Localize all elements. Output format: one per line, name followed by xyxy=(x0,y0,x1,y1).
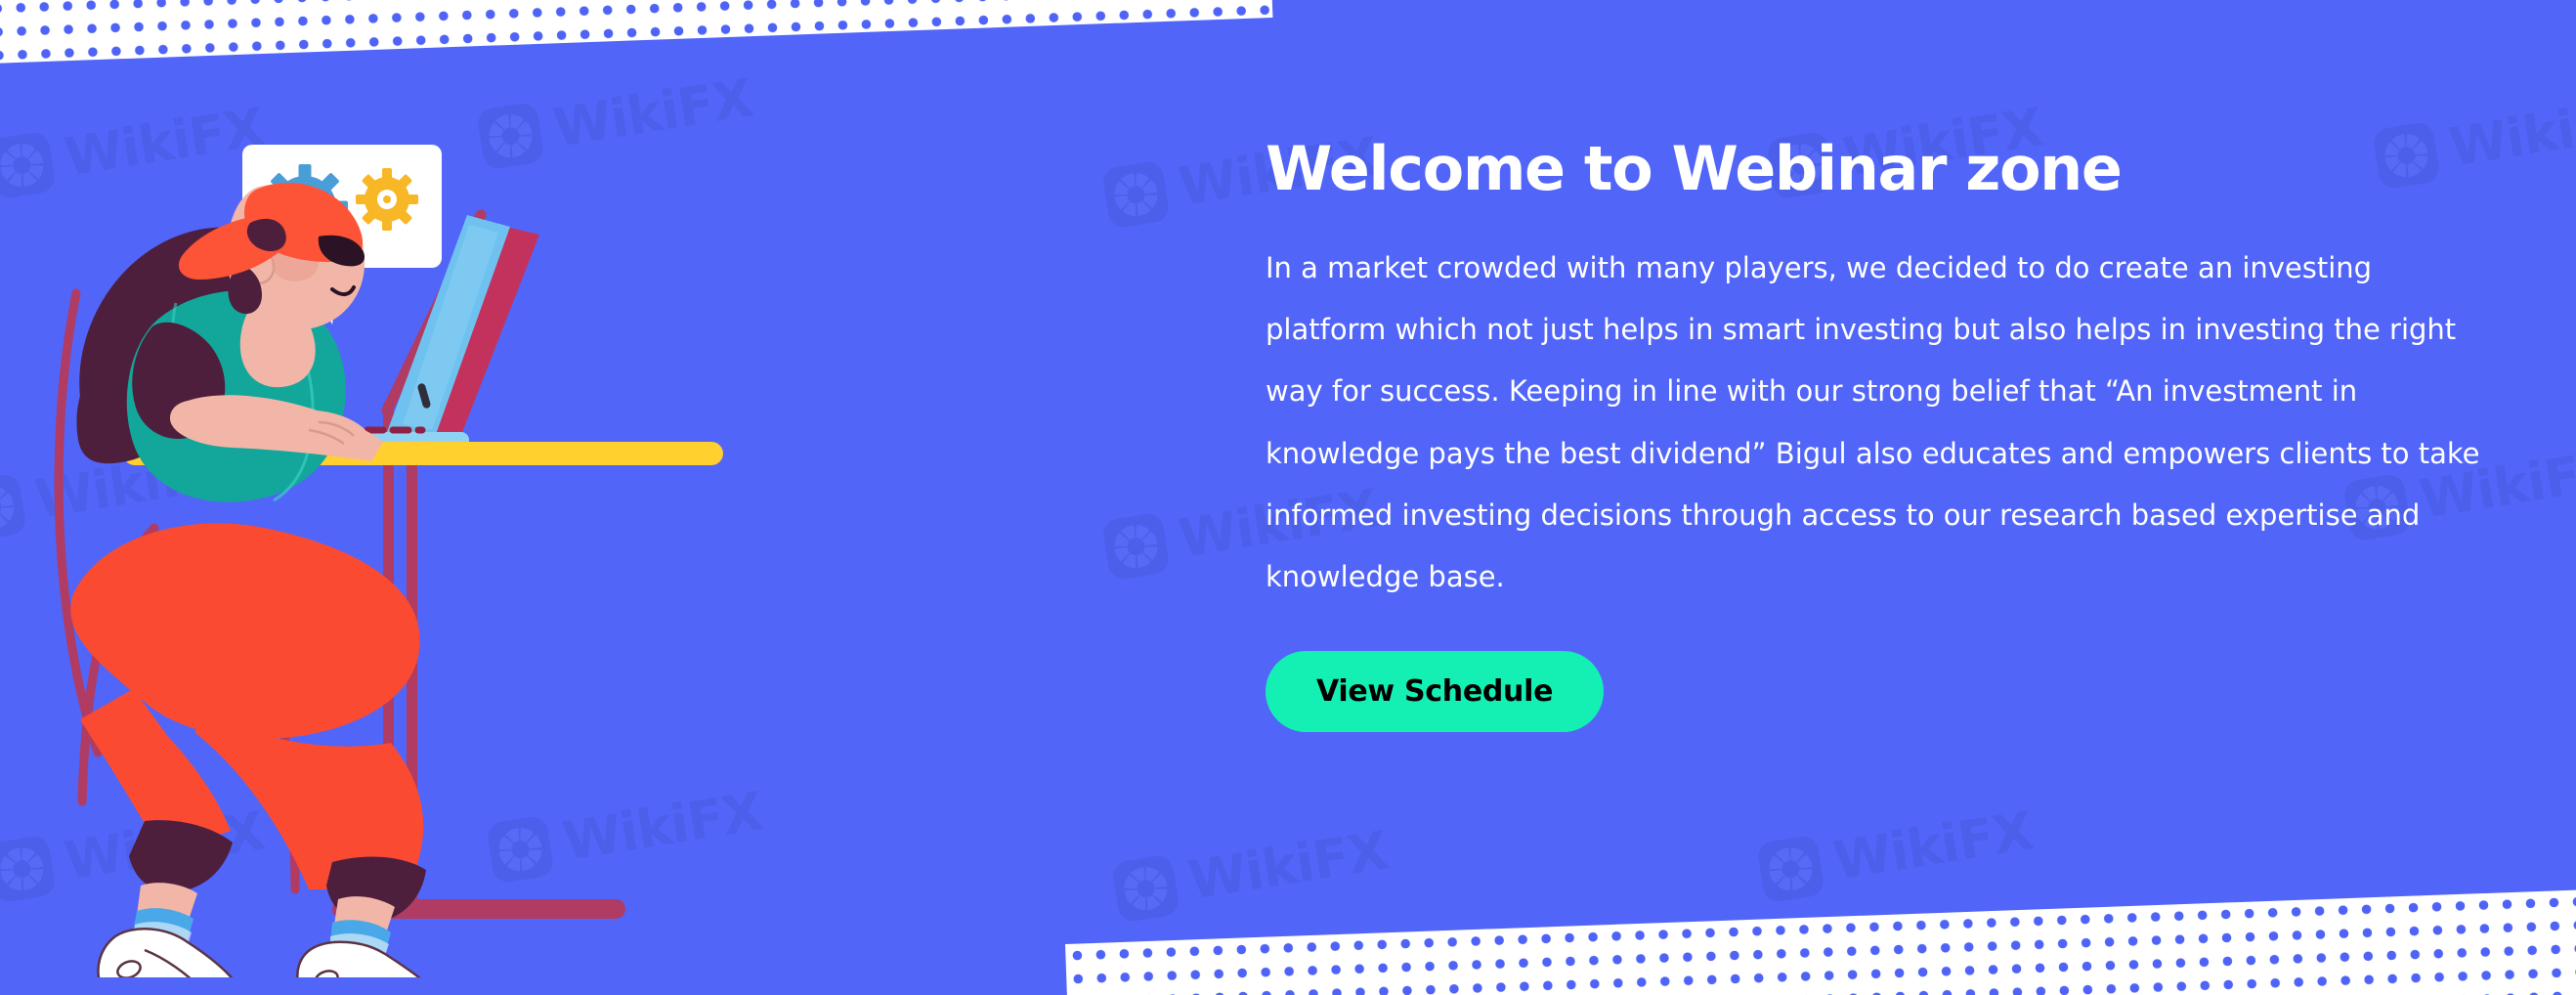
hero-copy: Welcome to Webinar zone In a market crow… xyxy=(1266,137,2497,732)
watermark: WikiFX xyxy=(1756,800,2037,903)
dotted-band-bottom-decoration xyxy=(1065,887,2576,995)
wikifx-logo-icon xyxy=(1101,159,1171,229)
watermark-label: WikiFX xyxy=(1184,819,1392,911)
woman-working-on-laptop-illustration xyxy=(39,117,821,977)
watermark-label: WikiFX xyxy=(1829,800,2037,891)
view-schedule-button[interactable]: View Schedule xyxy=(1266,651,1604,732)
wikifx-logo-icon xyxy=(1111,853,1181,923)
watermark: WikiFX xyxy=(1111,819,1392,923)
wikifx-logo-icon xyxy=(1101,511,1171,581)
wikifx-logo-icon xyxy=(0,472,27,541)
wikifx-logo-icon xyxy=(1756,834,1825,903)
page-title: Welcome to Webinar zone xyxy=(1266,137,2497,202)
dotted-band-top-decoration xyxy=(0,0,1272,65)
hero-section: WikiFX WikiFX WikiFX WikiFX WikiFX WikiF… xyxy=(0,0,2576,995)
hero-description: In a market crowded with many players, w… xyxy=(1266,238,2482,608)
